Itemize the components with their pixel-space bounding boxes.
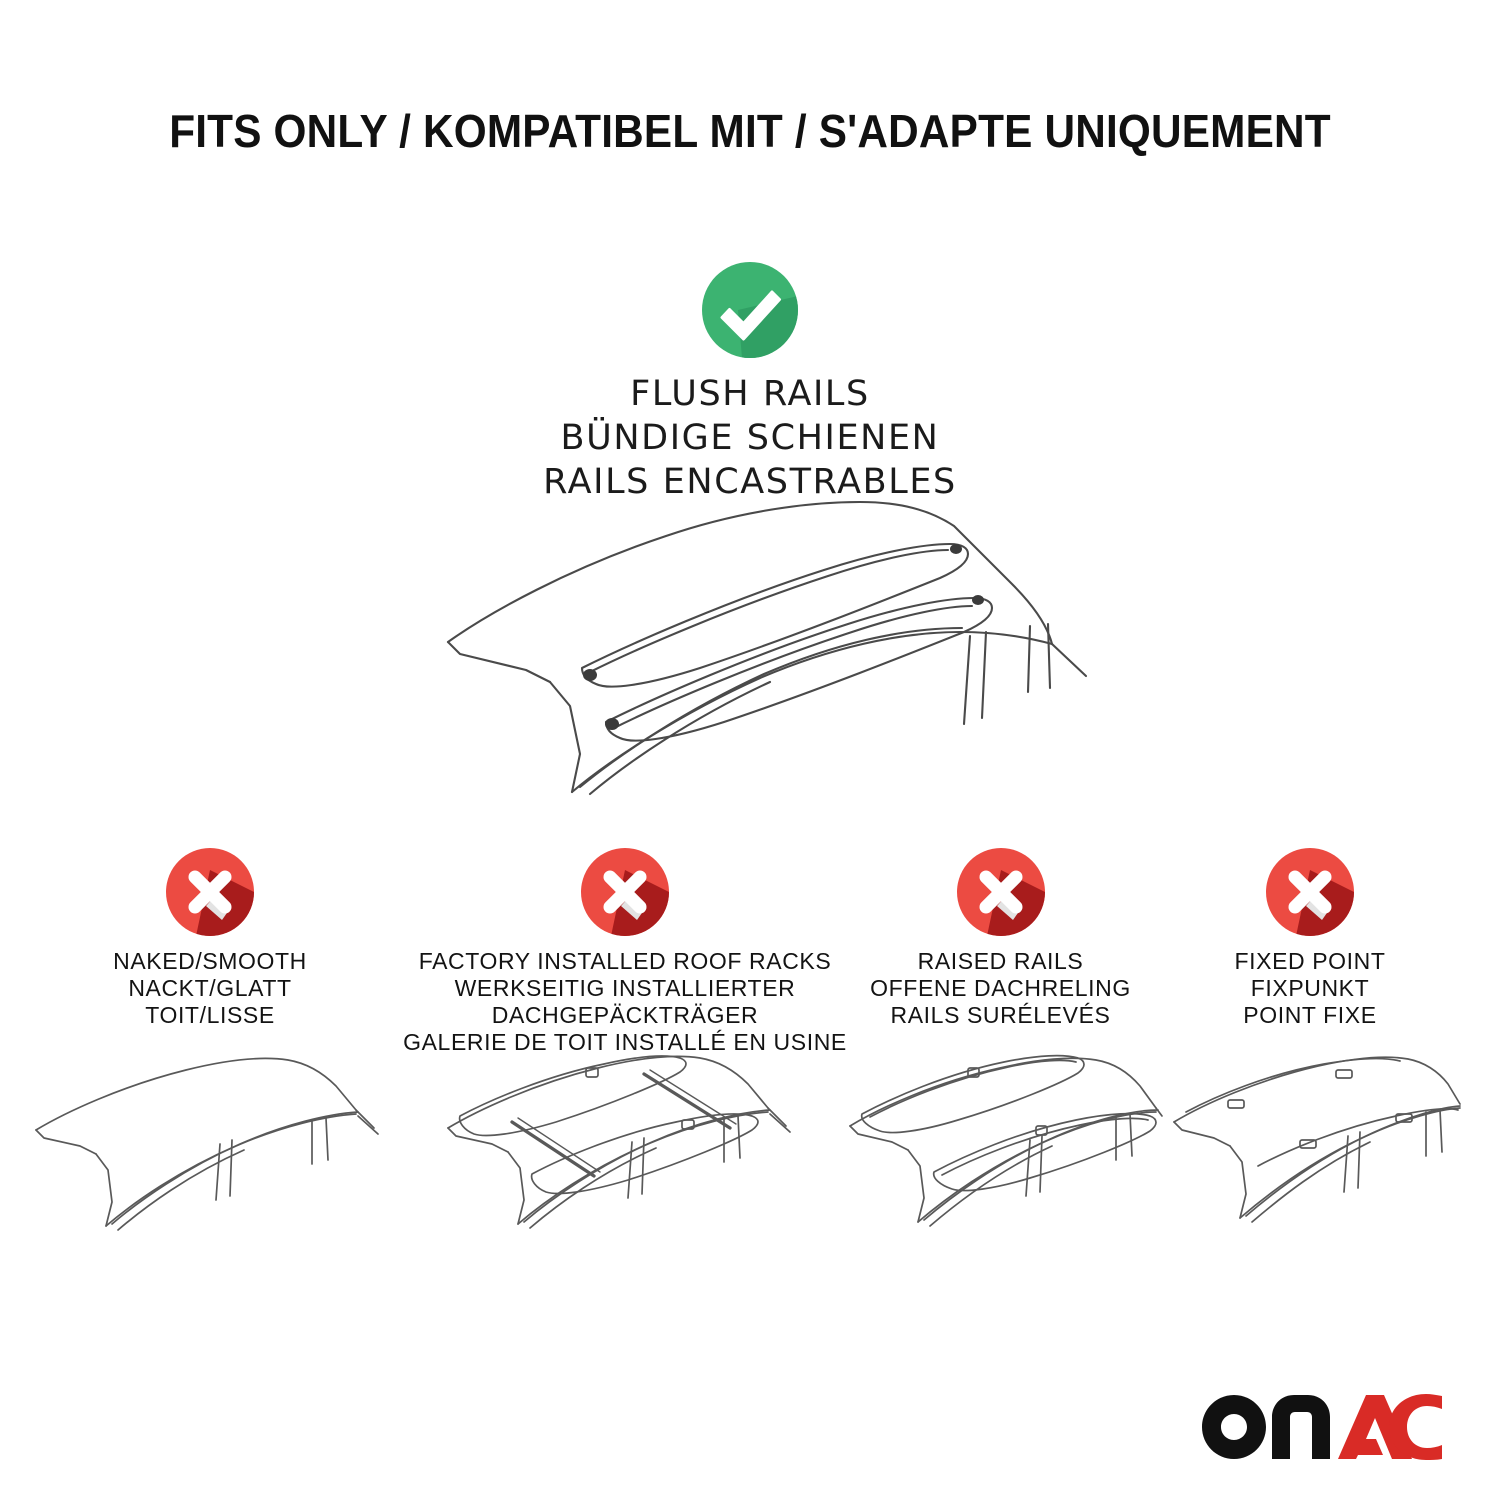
rejected-label: RAISED RAILS OFFENE DACHRELING RAILS SUR… — [838, 948, 1163, 1029]
badge-wrap — [1160, 848, 1460, 940]
badge-wrap — [838, 848, 1163, 940]
car-roof-fixed-point-illustration — [1160, 1054, 1460, 1254]
rejected-label-line: POINT FIXE — [1160, 1002, 1460, 1029]
rejected-label-line: WERKSEITIG INSTALLIERTER — [400, 975, 850, 1002]
rejected-label-line: TOIT/LISSE — [30, 1002, 390, 1029]
rejected-label-line: OFFENE DACHRELING — [838, 975, 1163, 1002]
page-title: FITS ONLY / KOMPATIBEL MIT / S'ADAPTE UN… — [60, 104, 1440, 158]
approved-section: FLUSH RAILS BÜNDIGE SCHIENEN RAILS ENCAS… — [0, 262, 1500, 504]
badge-wrap — [400, 848, 850, 940]
rejected-label: NAKED/SMOOTH NACKT/GLATT TOIT/LISSE — [30, 948, 390, 1029]
approved-labels: FLUSH RAILS BÜNDIGE SCHIENEN RAILS ENCAS… — [0, 372, 1500, 504]
approved-label-de: BÜNDIGE SCHIENEN — [0, 416, 1500, 460]
rejected-label-line: FIXED POINT — [1160, 948, 1460, 975]
green-check-circle-icon — [702, 262, 798, 358]
rejected-label-line: NAKED/SMOOTH — [30, 948, 390, 975]
rejected-section: NAKED/SMOOTH NACKT/GLATT TOIT/LISSE — [0, 848, 1500, 1268]
rejected-label-line: FIXPUNKT — [1160, 975, 1460, 1002]
approved-label-en: FLUSH RAILS — [0, 372, 1500, 416]
rejected-label-line: FACTORY INSTALLED ROOF RACKS — [400, 948, 850, 975]
rejected-item-factory-racks: FACTORY INSTALLED ROOF RACKS WERKSEITIG … — [400, 848, 850, 1056]
rejected-label-line: RAILS SURÉLEVÉS — [838, 1002, 1163, 1029]
rejected-label: FACTORY INSTALLED ROOF RACKS WERKSEITIG … — [400, 948, 850, 1056]
car-roof-flush-rails-illustration — [430, 492, 1090, 812]
rejected-item-raised-rails: RAISED RAILS OFFENE DACHRELING RAILS SUR… — [838, 848, 1163, 1029]
car-roof-naked-smooth-illustration — [30, 1054, 390, 1254]
badge-wrap — [30, 848, 390, 940]
approved-badge-wrap — [0, 262, 1500, 358]
rejected-label-line: DACHGEPÄCKTRÄGER — [400, 1002, 850, 1029]
rejected-label: FIXED POINT FIXPUNKT POINT FIXE — [1160, 948, 1460, 1029]
car-roof-factory-racks-illustration — [400, 1054, 850, 1254]
rejected-label-line: GALERIE DE TOIT INSTALLÉ EN USINE — [400, 1029, 850, 1056]
red-x-circle-icon — [166, 848, 254, 936]
car-roof-raised-rails-illustration — [838, 1054, 1163, 1254]
red-x-circle-icon — [1266, 848, 1354, 936]
rejected-item-fixed-point: FIXED POINT FIXPUNKT POINT FIXE — [1160, 848, 1460, 1029]
rejected-label-line: RAISED RAILS — [838, 948, 1163, 975]
red-x-circle-icon — [581, 848, 669, 936]
red-x-circle-icon — [957, 848, 1045, 936]
omac-logo — [1202, 1396, 1442, 1458]
rejected-label-line: NACKT/GLATT — [30, 975, 390, 1002]
rejected-item-naked-smooth: NAKED/SMOOTH NACKT/GLATT TOIT/LISSE — [30, 848, 390, 1029]
